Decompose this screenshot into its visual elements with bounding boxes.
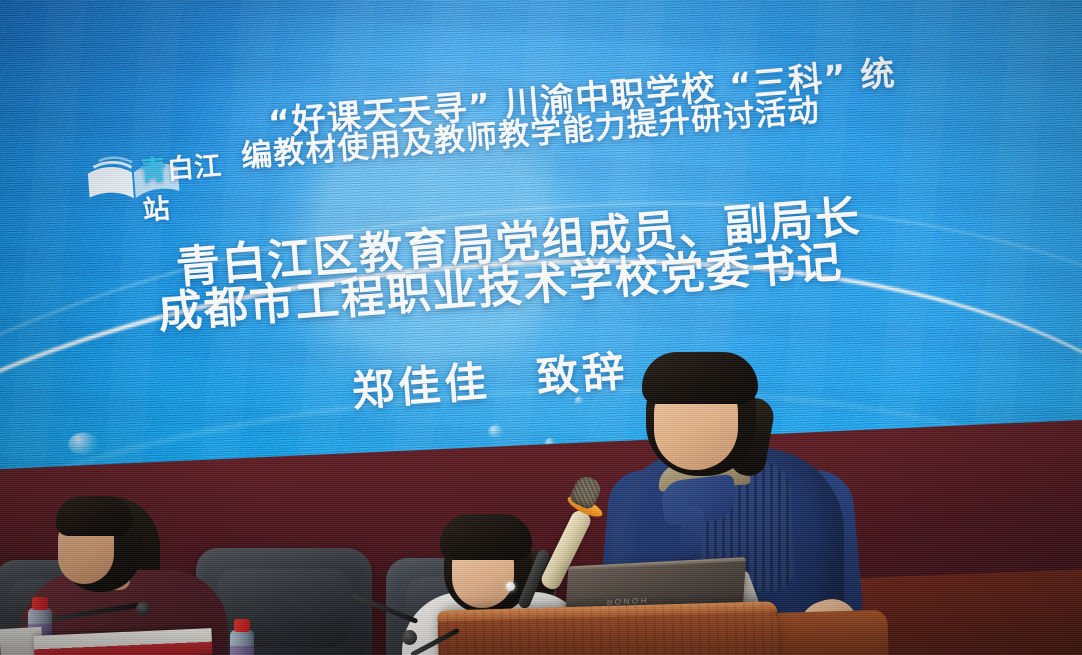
- table-microphone-head: [402, 630, 417, 645]
- podium-wood-grain: [437, 601, 779, 655]
- logo-wordmark: 青白江站: [138, 142, 248, 228]
- podium-lectern: [437, 601, 779, 655]
- bottle-cap: [234, 619, 250, 632]
- table-microphone-head: [136, 602, 150, 616]
- banner-speaker-line: 郑佳佳 致辞: [350, 337, 631, 419]
- water-bottle: [230, 630, 254, 655]
- hair-fringe: [56, 496, 132, 536]
- organization-logo: 青白江站: [82, 136, 246, 210]
- bottle-cap: [32, 597, 48, 610]
- hair-fringe: [642, 352, 758, 404]
- conference-photo: “好课天天寻” 川渝中职学校 “三科” 统 编教材使用及教师教学能力提升研讨活动…: [0, 0, 1082, 655]
- hair-fringe: [440, 514, 532, 560]
- bottle-label: [230, 646, 254, 655]
- logo-accent-char: 青: [139, 155, 169, 188]
- earring: [506, 582, 515, 591]
